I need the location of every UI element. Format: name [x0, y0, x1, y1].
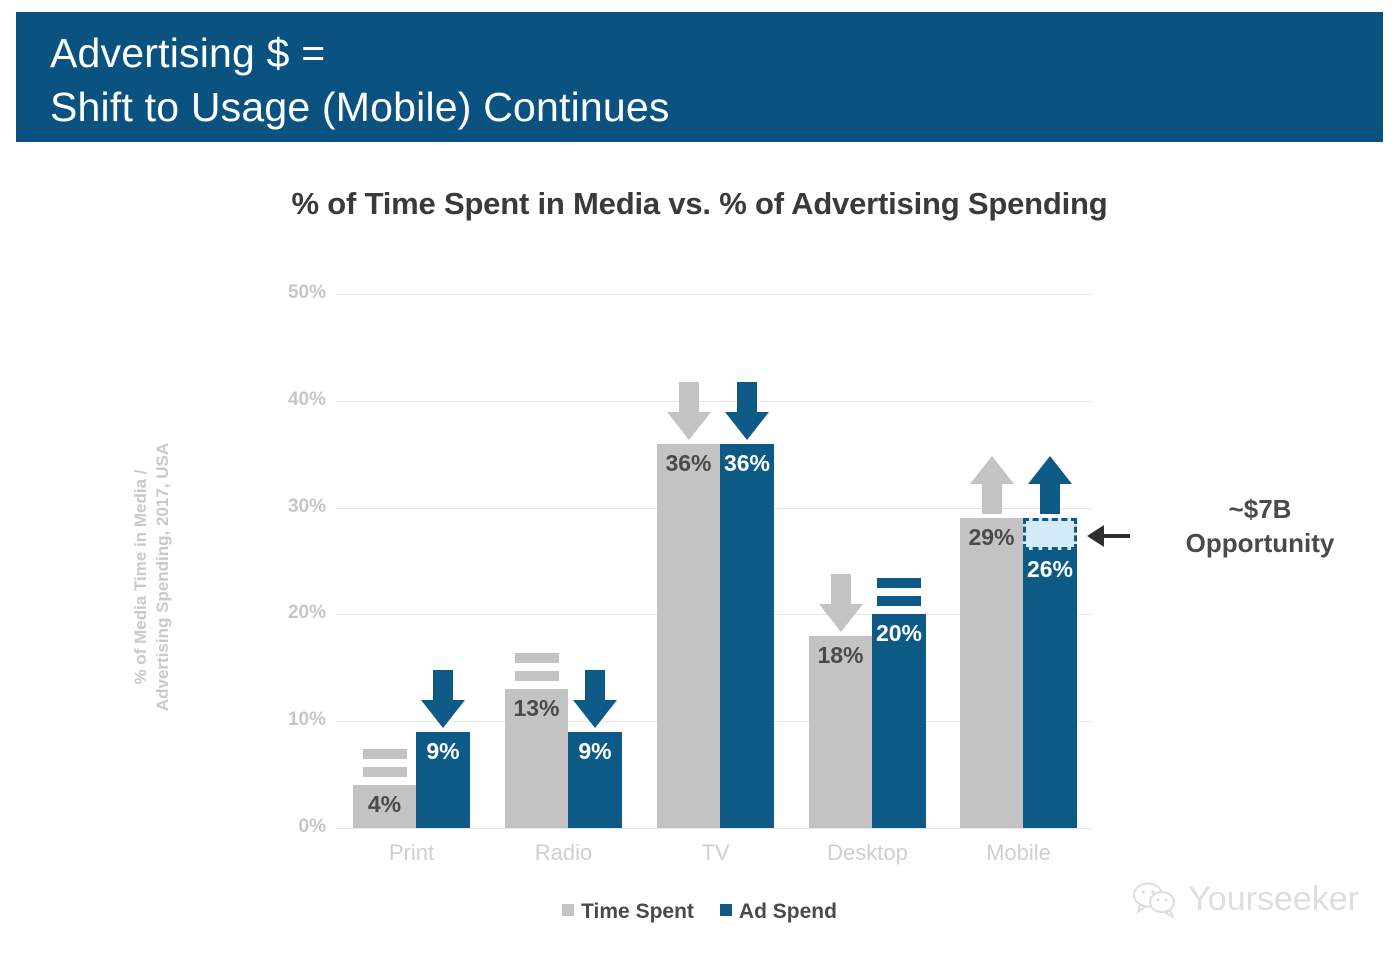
opportunity-amount: ~$7B: [1140, 492, 1380, 526]
y-axis-title: % of Media Time in Media / Advertising S…: [130, 367, 174, 787]
x-axis-label-tv: TV: [637, 840, 794, 866]
watermark: Yourseeker: [1132, 880, 1359, 919]
bar-value-label: 29%: [960, 524, 1023, 551]
bar-time-spent-print[interactable]: 4%: [353, 785, 416, 828]
wechat-icon: [1132, 881, 1178, 919]
equals-icon: [507, 653, 567, 685]
legend-label-time-spent: Time Spent: [581, 900, 694, 923]
bar-ad-spend-radio[interactable]: 9%: [568, 732, 622, 828]
bar-value-label: 36%: [657, 450, 720, 477]
equals-icon: [869, 578, 929, 610]
opportunity-word: Opportunity: [1140, 526, 1380, 560]
legend-item-ad-spend: Ad Spend: [720, 900, 837, 924]
x-axis-label-mobile: Mobile: [940, 840, 1097, 866]
bar-ad-spend-tv[interactable]: 36%: [720, 444, 774, 828]
bar-value-label: 9%: [416, 738, 470, 765]
gridline: [336, 828, 1092, 829]
watermark-text: Yourseeker: [1188, 880, 1359, 919]
bar-time-spent-mobile[interactable]: 29%: [960, 518, 1023, 828]
y-axis-tick-label: 50%: [266, 282, 326, 304]
bar-value-label: 18%: [809, 642, 872, 669]
arrow-up-icon: [962, 456, 1022, 516]
x-axis-label-desktop: Desktop: [789, 840, 946, 866]
bar-ad-spend-mobile[interactable]: 26%: [1023, 550, 1077, 828]
y-axis-tick-label: 30%: [266, 496, 326, 518]
bar-value-label: 9%: [568, 738, 622, 765]
x-axis-label-print: Print: [333, 840, 490, 866]
bar-time-spent-desktop[interactable]: 18%: [809, 636, 872, 828]
bar-value-label: 36%: [720, 450, 774, 477]
y-axis-tick-label: 20%: [266, 602, 326, 624]
arrow-up-icon: [1020, 456, 1080, 516]
x-axis-label-radio: Radio: [485, 840, 642, 866]
arrow-down-icon: [811, 574, 871, 634]
arrow-down-icon: [717, 382, 777, 442]
y-axis-tick-label: 10%: [266, 709, 326, 731]
opportunity-label: ~$7B Opportunity: [1140, 492, 1380, 560]
equals-icon: [355, 749, 415, 781]
gridline: [336, 294, 1092, 295]
y-axis-title-line-1: % of Media Time in Media /: [130, 367, 152, 787]
arrow-down-icon: [659, 382, 719, 442]
opportunity-box: [1023, 518, 1077, 550]
bar-value-label: 4%: [353, 791, 416, 818]
bar-value-label: 26%: [1023, 556, 1077, 583]
legend-swatch-time-spent: [562, 904, 574, 916]
y-axis-tick-label: 40%: [266, 389, 326, 411]
bar-value-label: 20%: [872, 620, 926, 647]
legend-item-time-spent: Time Spent: [562, 900, 694, 924]
y-axis-title-line-2: Advertising Spending, 2017, USA: [152, 367, 174, 787]
legend-swatch-ad-spend: [720, 904, 732, 916]
bar-ad-spend-desktop[interactable]: 20%: [872, 614, 926, 828]
arrow-down-icon: [565, 670, 625, 730]
chart-plot-area: 0%10%20%30%40%50% % of Media Time in Med…: [0, 0, 1399, 960]
bar-time-spent-tv[interactable]: 36%: [657, 444, 720, 828]
bar-ad-spend-print[interactable]: 9%: [416, 732, 470, 828]
arrow-down-icon: [413, 670, 473, 730]
y-axis-tick-label: 0%: [266, 816, 326, 838]
bar-value-label: 13%: [505, 695, 568, 722]
bar-time-spent-radio[interactable]: 13%: [505, 689, 568, 828]
legend-label-ad-spend: Ad Spend: [739, 900, 837, 923]
